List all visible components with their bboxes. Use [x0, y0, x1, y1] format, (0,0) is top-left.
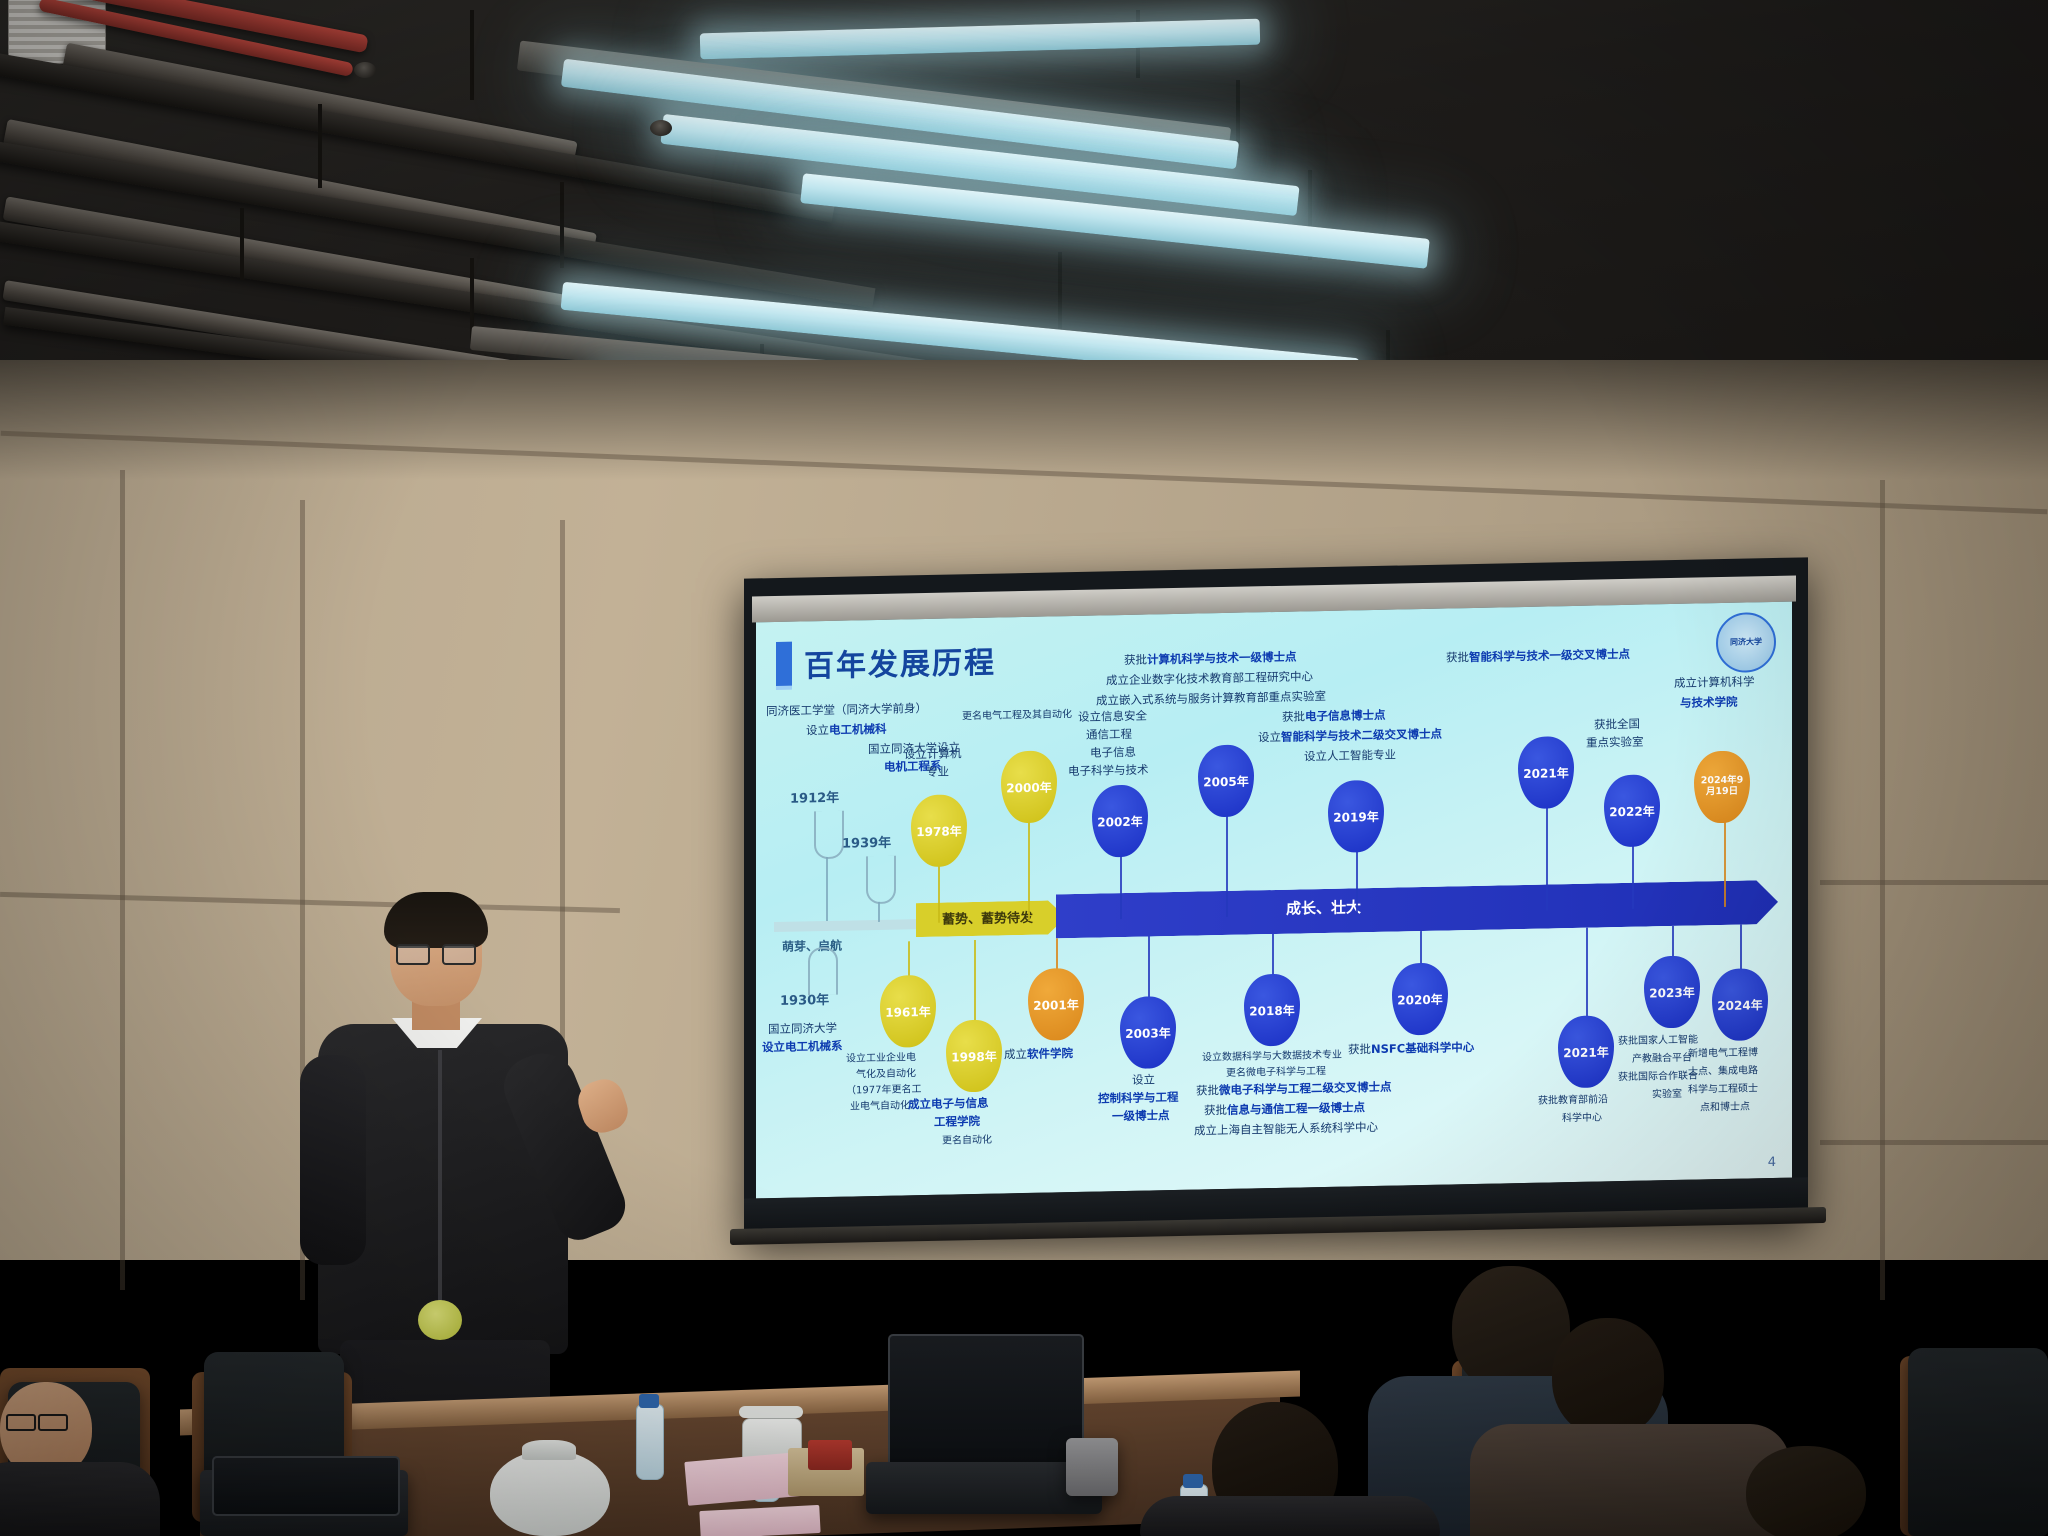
label-2021-top-line-1: 获批智能科学与技术一级交叉博士点: [1446, 647, 1630, 666]
balloon-1998: 1998年: [946, 1019, 1002, 1092]
label-2001-bold: 软件学院: [1027, 1046, 1073, 1061]
water-bottle[interactable]: [636, 1404, 664, 1480]
label-2021-bottom-line-1: 获批教育部前沿: [1538, 1093, 1608, 1108]
string-2003: [1148, 936, 1150, 1000]
label-1998-line-3: 更名自动化: [942, 1134, 992, 1148]
label-2003-bold-2: 一级博士点: [1112, 1108, 1170, 1123]
string-1998: [974, 940, 976, 1024]
label-2020-line-1: 获批NSFC基础科学中心: [1348, 1040, 1474, 1058]
string-1939: [878, 902, 880, 922]
string-1961: [908, 941, 910, 977]
audience-body-2: [1470, 1424, 1790, 1536]
intro-line-1: 同济医工学堂（同济大学前身）: [766, 701, 927, 719]
lamp-hanger: [240, 208, 244, 280]
label-1930-line-1: 国立同济大学: [768, 1021, 837, 1038]
university-logo: 同济大学: [1716, 612, 1776, 673]
lamp-hanger: [318, 104, 322, 188]
presenter-left-arm: [300, 1055, 366, 1265]
ceiling-spotlight-icon: [354, 62, 376, 78]
label-2018-bold-1: 微电子科学与工程二级交叉博士点: [1219, 1080, 1392, 1097]
label-2022-line-2: 重点实验室: [1586, 735, 1644, 751]
string-2018: [1272, 934, 1274, 978]
label-2021-top-bold: 智能科学与技术一级交叉博士点: [1469, 647, 1630, 664]
label-2001-line-1: 成立软件学院: [1004, 1046, 1073, 1063]
phase-label-big: 成长、壮大: [1286, 896, 1361, 919]
label-2023-line-3: 获批国际合作联合: [1618, 1069, 1698, 1084]
balloon-2000: 2000年: [1001, 750, 1057, 823]
string-2020: [1420, 931, 1422, 967]
label-2018-bold-2: 信息与通信工程一级博士点: [1227, 1100, 1365, 1117]
label-2024-line-1: 新增电气工程博: [1688, 1046, 1758, 1061]
label-2019-bold-1: 电子信息博士点: [1305, 708, 1386, 724]
balloon-2019: 2019年: [1328, 780, 1384, 853]
audience-body-3: [1140, 1496, 1440, 1536]
laptop-left-screen: [212, 1456, 400, 1516]
label-2018-line-4: 获批信息与通信工程一级博士点: [1204, 1100, 1365, 1118]
laptop-center-screen: [888, 1334, 1084, 1474]
label-2002-line-4: 电子科学与技术: [1068, 763, 1149, 780]
balloon-2021-bottom: 2021年: [1558, 1015, 1614, 1088]
title-accent-bar: [776, 642, 792, 686]
label-1961-line-2: 气化及自动化: [856, 1067, 916, 1081]
label-2003-bold-1: 控制科学与工程: [1098, 1090, 1179, 1106]
label-1930-line-2: 设立电工机械系: [762, 1039, 843, 1056]
lamp-hanger: [470, 10, 474, 100]
device-gray-box: [1066, 1438, 1118, 1496]
label-2023-line-1: 获批国家人工智能: [1618, 1033, 1698, 1048]
string-2000: [1028, 817, 1030, 921]
label-1998-line-1: 成立电子与信息: [908, 1096, 989, 1113]
hook-marker-1939: [866, 856, 896, 905]
label-2024-sept-line-2: 与技术学院: [1680, 695, 1738, 711]
label-1998-line-2: 工程学院: [934, 1114, 980, 1130]
label-1978-line-2: 专业: [926, 765, 949, 781]
label-2002-line-3: 电子信息: [1090, 745, 1136, 761]
label-2024-sept-bold: 与技术学院: [1680, 695, 1738, 710]
wall-seam: [120, 470, 125, 1290]
balloon-1978: 1978年: [911, 794, 967, 867]
teapot[interactable]: [490, 1450, 610, 1536]
presenter-jacket-zipper: [438, 1050, 442, 1330]
ceiling-spotlight-icon: [650, 120, 672, 136]
balloon-2020: 2020年: [1392, 963, 1448, 1036]
string-2005: [1226, 811, 1228, 917]
label-2021-bottom-line-2: 科学中心: [1562, 1111, 1602, 1125]
water-bottle-cap: [1183, 1474, 1203, 1488]
balloon-2005: 2005年: [1198, 744, 1254, 817]
label-1998-bold-2: 工程学院: [934, 1114, 980, 1129]
presenter-hair: [384, 892, 488, 948]
label-2005-line-1: 获批计算机科学与技术一级博士点: [1124, 650, 1297, 669]
audience-head-4: [1746, 1446, 1866, 1536]
label-2018-line-2: 更名微电子科学与工程: [1226, 1065, 1326, 1080]
label-2018-line-1: 设立数据科学与大数据技术专业: [1202, 1049, 1342, 1065]
label-2002-line-1: 设立信息安全: [1078, 709, 1147, 726]
label-2003-line-1: 设立: [1132, 1072, 1155, 1088]
glasses-icon: [6, 1414, 70, 1428]
label-2020-bold: NSFC基础科学中心: [1371, 1040, 1474, 1056]
label-2019-line-3: 设立人工智能专业: [1304, 748, 1396, 765]
label-1930-bold: 设立电工机械系: [762, 1039, 843, 1055]
label-2023-line-2: 产教融合平台: [1632, 1052, 1692, 1066]
intro-prefix: 设立: [806, 723, 829, 737]
intro-highlight: 电工机械科: [829, 722, 887, 737]
tea-cup-lid: [739, 1406, 803, 1418]
string-1978: [938, 861, 940, 923]
label-1961-line-3: （1977年更名工: [846, 1083, 921, 1098]
phase-arrow-big: [1056, 880, 1778, 938]
water-bottle-cap: [639, 1394, 659, 1408]
label-1978-line-1: 设立计算机: [904, 746, 962, 762]
paper-sheet[interactable]: [699, 1505, 820, 1536]
balloon-2024-sept: 2024年9月19日: [1694, 750, 1750, 823]
balloon-2021-top: 2021年: [1518, 736, 1574, 809]
label-2018-line-3: 获批微电子科学与工程二级交叉博士点: [1196, 1080, 1392, 1099]
projected-slide: 百年发展历程 同济大学 4 同济医工学堂（同济大学前身） 设立电工机械科 萌芽、…: [756, 602, 1792, 1199]
hook-marker-1930: [808, 947, 838, 996]
audience-head-2: [1552, 1318, 1664, 1438]
label-2019-bold-2: 智能科学与技术二级交叉博士点: [1281, 727, 1442, 744]
balloon-1961: 1961年: [880, 975, 936, 1048]
balloon-2022: 2022年: [1604, 774, 1660, 847]
string-2021-top: [1546, 802, 1548, 910]
label-2018-line-5: 成立上海自主智能无人系统科学中心: [1194, 1120, 1378, 1139]
slide-content: 百年发展历程 同济大学 4 同济医工学堂（同济大学前身） 设立电工机械科 萌芽、…: [756, 602, 1792, 1199]
year-1939: 1939年: [842, 832, 891, 852]
label-2019-line-2: 设立智能科学与技术二级交叉博士点: [1258, 727, 1442, 746]
wall-seam: [1880, 480, 1885, 1300]
label-2005-line-2: 成立企业数字化技术教育部工程研究中心: [1106, 669, 1313, 688]
label-2019-line-1: 获批电子信息博士点: [1282, 708, 1386, 725]
audience-body-left: [0, 1462, 160, 1536]
string-2024-sept: [1724, 815, 1726, 907]
intro-line-2: 设立电工机械科: [806, 722, 887, 739]
balloon-2018: 2018年: [1244, 973, 1300, 1046]
string-2021-bottom: [1586, 928, 1588, 1020]
lamp-hanger: [1058, 252, 1062, 332]
label-2003-line-3: 一级博士点: [1112, 1108, 1170, 1124]
label-2005-bold: 计算机科学与技术一级博士点: [1147, 650, 1297, 667]
string-2002: [1120, 851, 1122, 919]
conference-room-scene: 百年发展历程 同济大学 4 同济医工学堂（同济大学前身） 设立电工机械科 萌芽、…: [0, 0, 2048, 1536]
string-2019: [1356, 846, 1358, 914]
slide-title: 百年发展历程: [804, 638, 996, 686]
label-2024-line-3: 科学与工程硕士: [1688, 1082, 1758, 1097]
label-2023-line-4: 实验室: [1652, 1088, 1682, 1102]
glasses-icon: [396, 944, 476, 962]
string-1912: [826, 857, 828, 921]
label-2024-sept-line-1: 成立计算机科学: [1674, 674, 1755, 691]
label-2003-line-2: 控制科学与工程: [1098, 1090, 1179, 1107]
label-2005-line-3: 成立嵌入式系统与服务计算教育部重点实验室: [1096, 689, 1326, 709]
lamp-hanger: [560, 182, 564, 268]
label-2022-line-1: 获批全国: [1594, 717, 1640, 733]
year-1912: 1912年: [790, 787, 839, 807]
string-2022: [1632, 841, 1634, 909]
label-2000-line-1: 更名电气工程及其自动化: [962, 708, 1072, 723]
phase-arrow-seed: [774, 919, 924, 932]
label-1961-line-1: 设立工业企业电: [846, 1051, 916, 1066]
wall-seam: [1820, 880, 2048, 885]
balloon-2001: 2001年: [1028, 968, 1084, 1041]
phase-label-grow: 蓄势、蓄势待发: [942, 907, 1033, 928]
red-box-item: [808, 1440, 852, 1470]
slide-page-number: 4: [1768, 1155, 1776, 1170]
balloon-2002: 2002年: [1092, 785, 1148, 858]
hook-marker-1912: [814, 811, 844, 860]
chair-right-2[interactable]: [1908, 1348, 2048, 1536]
label-2024-line-2: 士点、集成电路: [1688, 1064, 1758, 1079]
wall-shadow: [0, 360, 2048, 480]
balloon-2023: 2023年: [1644, 955, 1700, 1028]
label-1998-bold-1: 成立电子与信息: [908, 1096, 989, 1112]
string-2024: [1740, 925, 1742, 973]
balloon-2024: 2024年: [1712, 968, 1768, 1041]
wall-seam: [1820, 1140, 2048, 1145]
teapot-lid: [522, 1440, 576, 1460]
label-2002-line-2: 通信工程: [1086, 727, 1132, 743]
balloon-2003: 2003年: [1120, 996, 1176, 1069]
label-2024-line-4: 点和博士点: [1700, 1100, 1750, 1114]
